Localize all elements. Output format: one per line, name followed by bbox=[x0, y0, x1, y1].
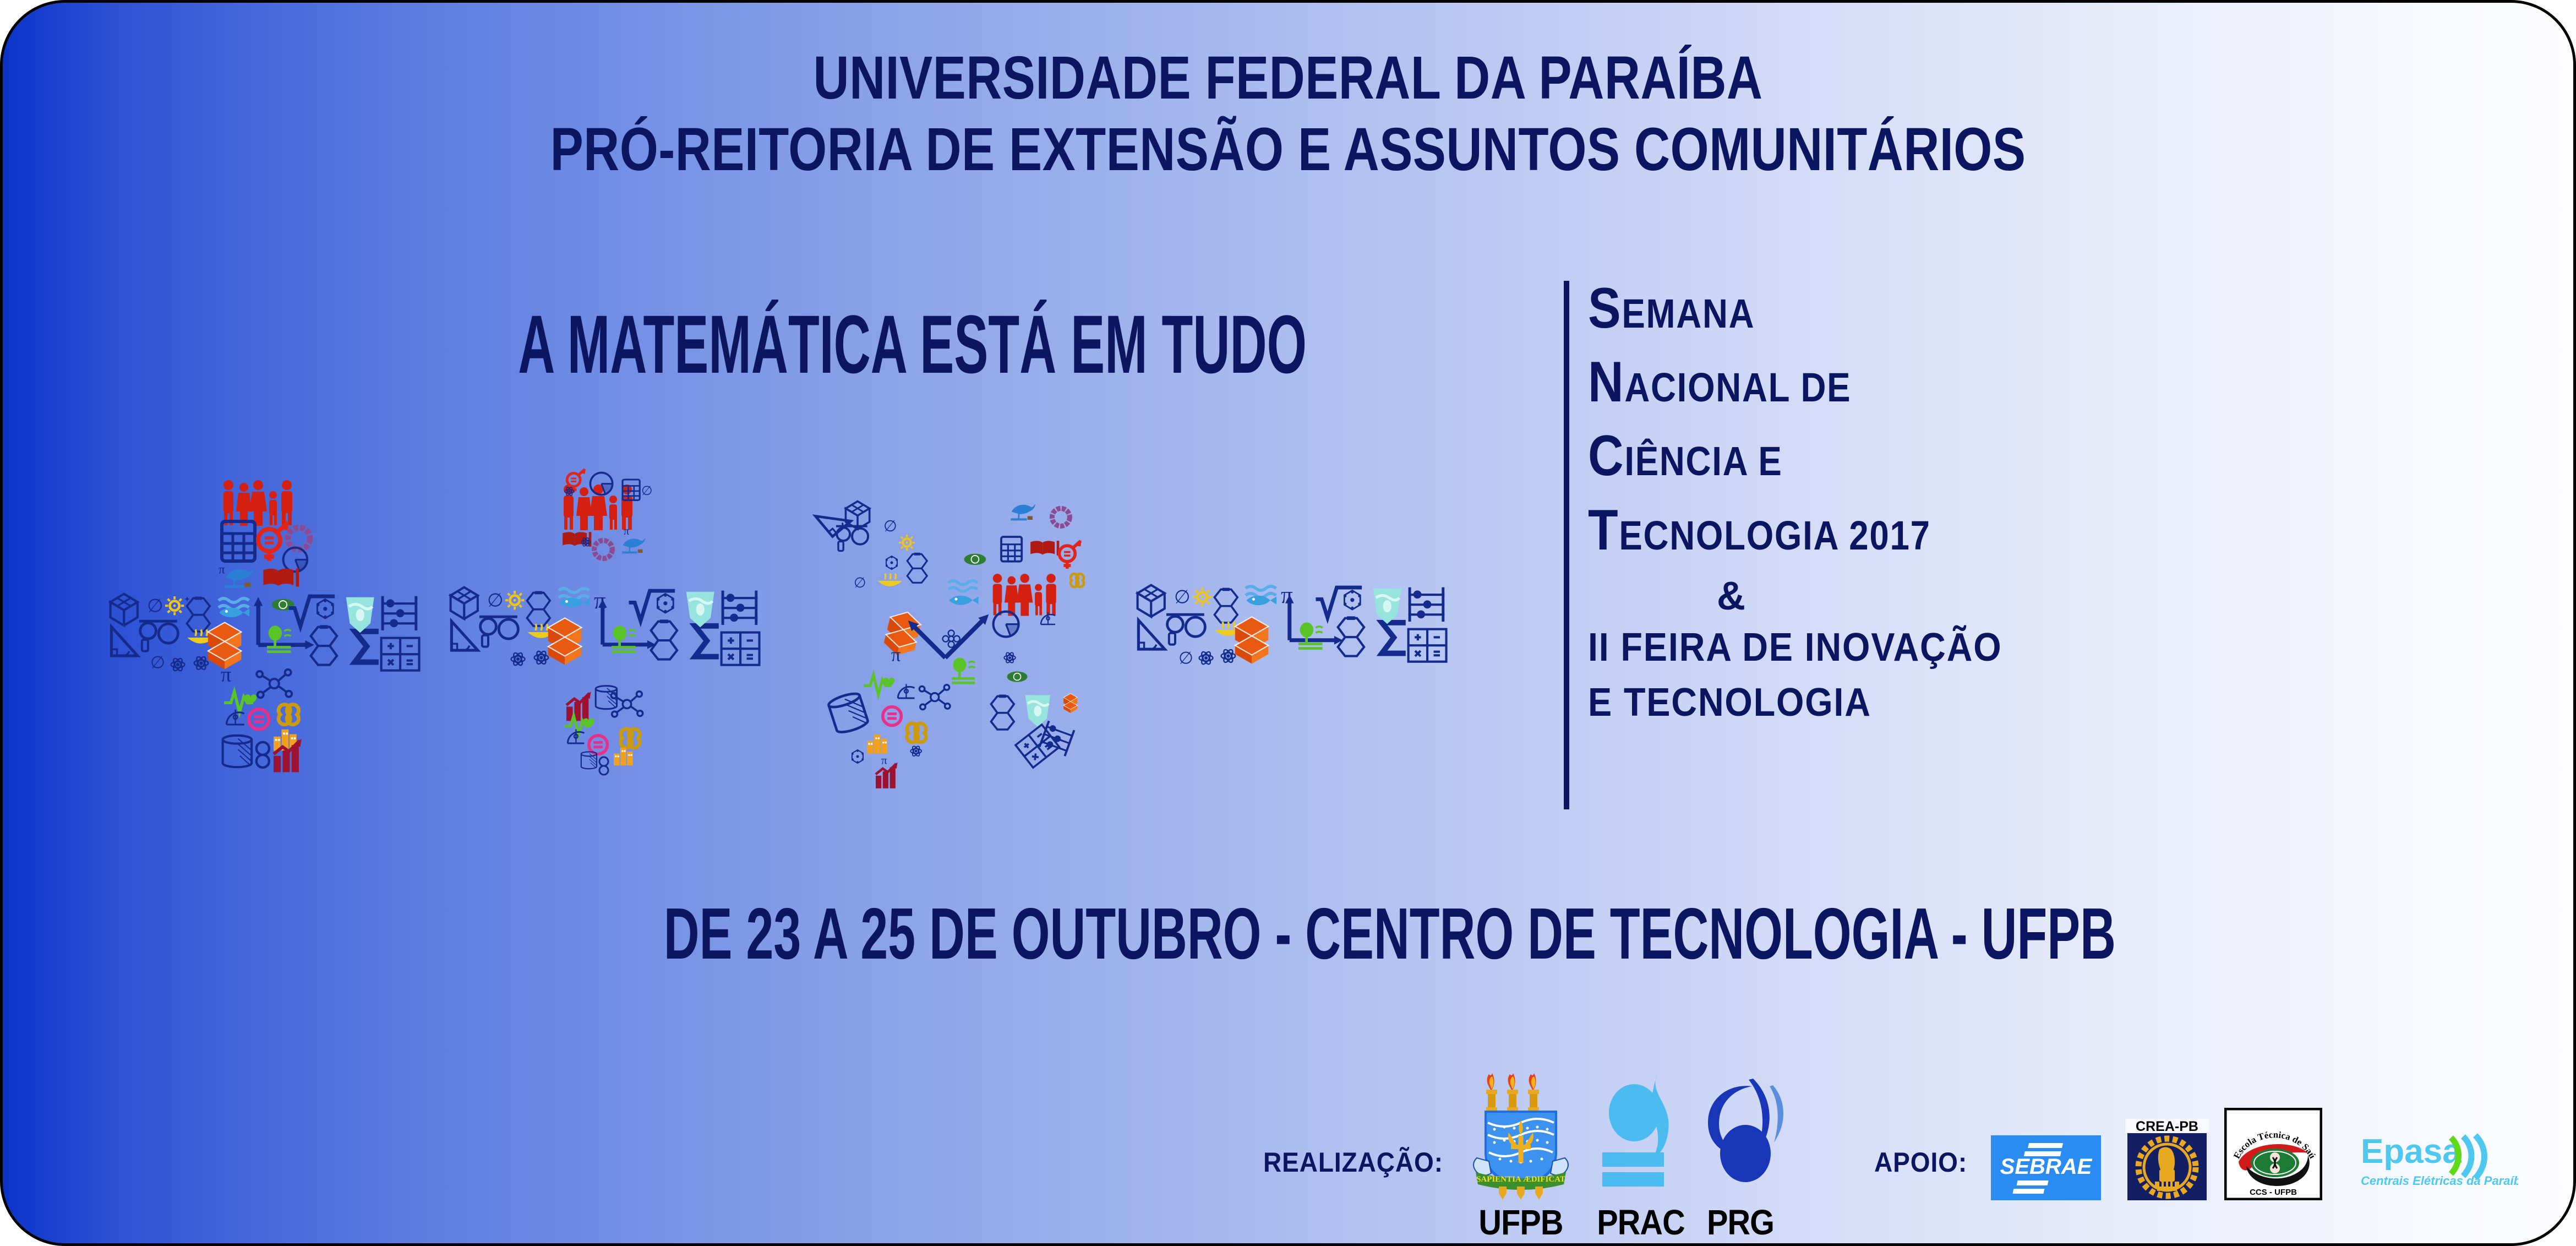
realizacao-label: REALIZAÇÃO: bbox=[1263, 1146, 1443, 1178]
vertical-divider bbox=[1564, 281, 1569, 809]
logo-crea-pb: CREA-PB bbox=[2125, 1119, 2209, 1200]
snct-word-tecnologia-2017: ECNOLOGIA 2017 bbox=[1619, 513, 1930, 558]
snct-line-feira: II FEIRA DE INOVAÇÃO bbox=[1588, 627, 2480, 668]
math-icon-cluster-times bbox=[783, 475, 1114, 795]
snct-initial-s: S bbox=[1588, 276, 1622, 340]
page-title: A MATEMÁTICA ESTÁ EM TUDO bbox=[518, 303, 1194, 385]
logo-label-ufpb: UFPB bbox=[1466, 1205, 1575, 1240]
prac-flame-icon bbox=[1591, 1070, 1690, 1202]
crea-pb-logo-icon: CREA-PB bbox=[2125, 1119, 2209, 1200]
event-dates-venue: DE 23 A 25 DE OUTUBRO - CENTRO DE TECNOL… bbox=[664, 897, 1929, 970]
apoio-label: APOIO: bbox=[1874, 1146, 1967, 1178]
logo-prg: PRG bbox=[1688, 1070, 1793, 1240]
epasa-sublabel: Centrais Elétricas da Paraíba S.A. bbox=[2361, 1174, 2518, 1188]
escola-tecnica-saude-logo-icon: Escola Técnica de Saúde CCS - UFPB bbox=[2224, 1108, 2322, 1200]
math-icon-cluster-divide bbox=[436, 460, 778, 801]
department-name: PRÓ-REITORIA DE EXTENSÃO E ASSUNTOS COMU… bbox=[234, 114, 2342, 186]
university-name: UNIVERSIDADE FEDERAL DA PARAÍBA bbox=[234, 42, 2342, 114]
logo-epasa: Epasa Centrais Elétricas da Paraíba S.A. bbox=[2359, 1129, 2518, 1195]
logo-sebrae: SEBRAE bbox=[1991, 1135, 2101, 1200]
logo-label-prac: PRAC bbox=[1596, 1205, 1685, 1240]
snct-line-ciencia: CIÊNCIA E bbox=[1588, 426, 2480, 486]
ampersand: & bbox=[1588, 574, 1874, 619]
snct-initial-c: C bbox=[1588, 424, 1624, 488]
ufpb-motto: SAPIENTIA ÆDIFICAT bbox=[1476, 1175, 1565, 1184]
snct-line-tecnologia: TECNOLOGIA 2017 bbox=[1588, 500, 2480, 561]
ufpb-crest-icon: SAPIENTIA ÆDIFICAT bbox=[1460, 1070, 1581, 1202]
logo-ufpb: SAPIENTIA ÆDIFICAT UFPB bbox=[1460, 1070, 1581, 1240]
snct-line-nacional: NACIONAL DE bbox=[1588, 352, 2480, 412]
event-poster: UNIVERSIDADE FEDERAL DA PARAÍBA PRÓ-REIT… bbox=[0, 0, 2576, 1246]
institution-header: UNIVERSIDADE FEDERAL DA PARAÍBA PRÓ-REIT… bbox=[3, 42, 2573, 186]
event-name-block: SEMANA NACIONAL DE CIÊNCIA E TECNOLOGIA … bbox=[1588, 278, 2480, 737]
sebrae-logo-icon: SEBRAE bbox=[1991, 1135, 2101, 1200]
logo-label-prg: PRG bbox=[1694, 1205, 1788, 1240]
logo-escola-tecnica-saude: Escola Técnica de Saúde CCS - UFPB bbox=[2224, 1108, 2322, 1200]
snct-word-semana: EMANA bbox=[1622, 291, 1755, 336]
footer-logos: REALIZAÇÃO: bbox=[3, 1062, 2573, 1243]
epasa-wordmark: Epasa bbox=[2361, 1133, 2462, 1171]
snct-line-semana: SEMANA bbox=[1588, 278, 2480, 339]
snct-initial-t: T bbox=[1588, 498, 1619, 562]
logo-prac: PRAC bbox=[1591, 1070, 1690, 1240]
math-icon-cluster-plus: π ∅ bbox=[96, 460, 438, 801]
math-icon-cluster-minus bbox=[1126, 568, 1500, 705]
snct-word-ciencia: IÊNCIA E bbox=[1624, 438, 1782, 484]
crea-pb-wordmark: CREA-PB bbox=[2136, 1119, 2198, 1134]
sebrae-wordmark: SEBRAE bbox=[2000, 1155, 2093, 1179]
snct-word-nacional: ACIONAL DE bbox=[1624, 364, 1851, 410]
snct-initial-n: N bbox=[1588, 350, 1624, 414]
snct-line-e-tecnologia: E TECNOLOGIA bbox=[1588, 682, 2480, 723]
math-icon-collage: π ∅ bbox=[96, 460, 1527, 812]
epasa-logo-icon: Epasa Centrais Elétricas da Paraíba S.A. bbox=[2359, 1129, 2518, 1195]
prg-wave-icon bbox=[1688, 1070, 1793, 1202]
escola-tecnica-sublabel: CCS - UFPB bbox=[2250, 1188, 2297, 1197]
